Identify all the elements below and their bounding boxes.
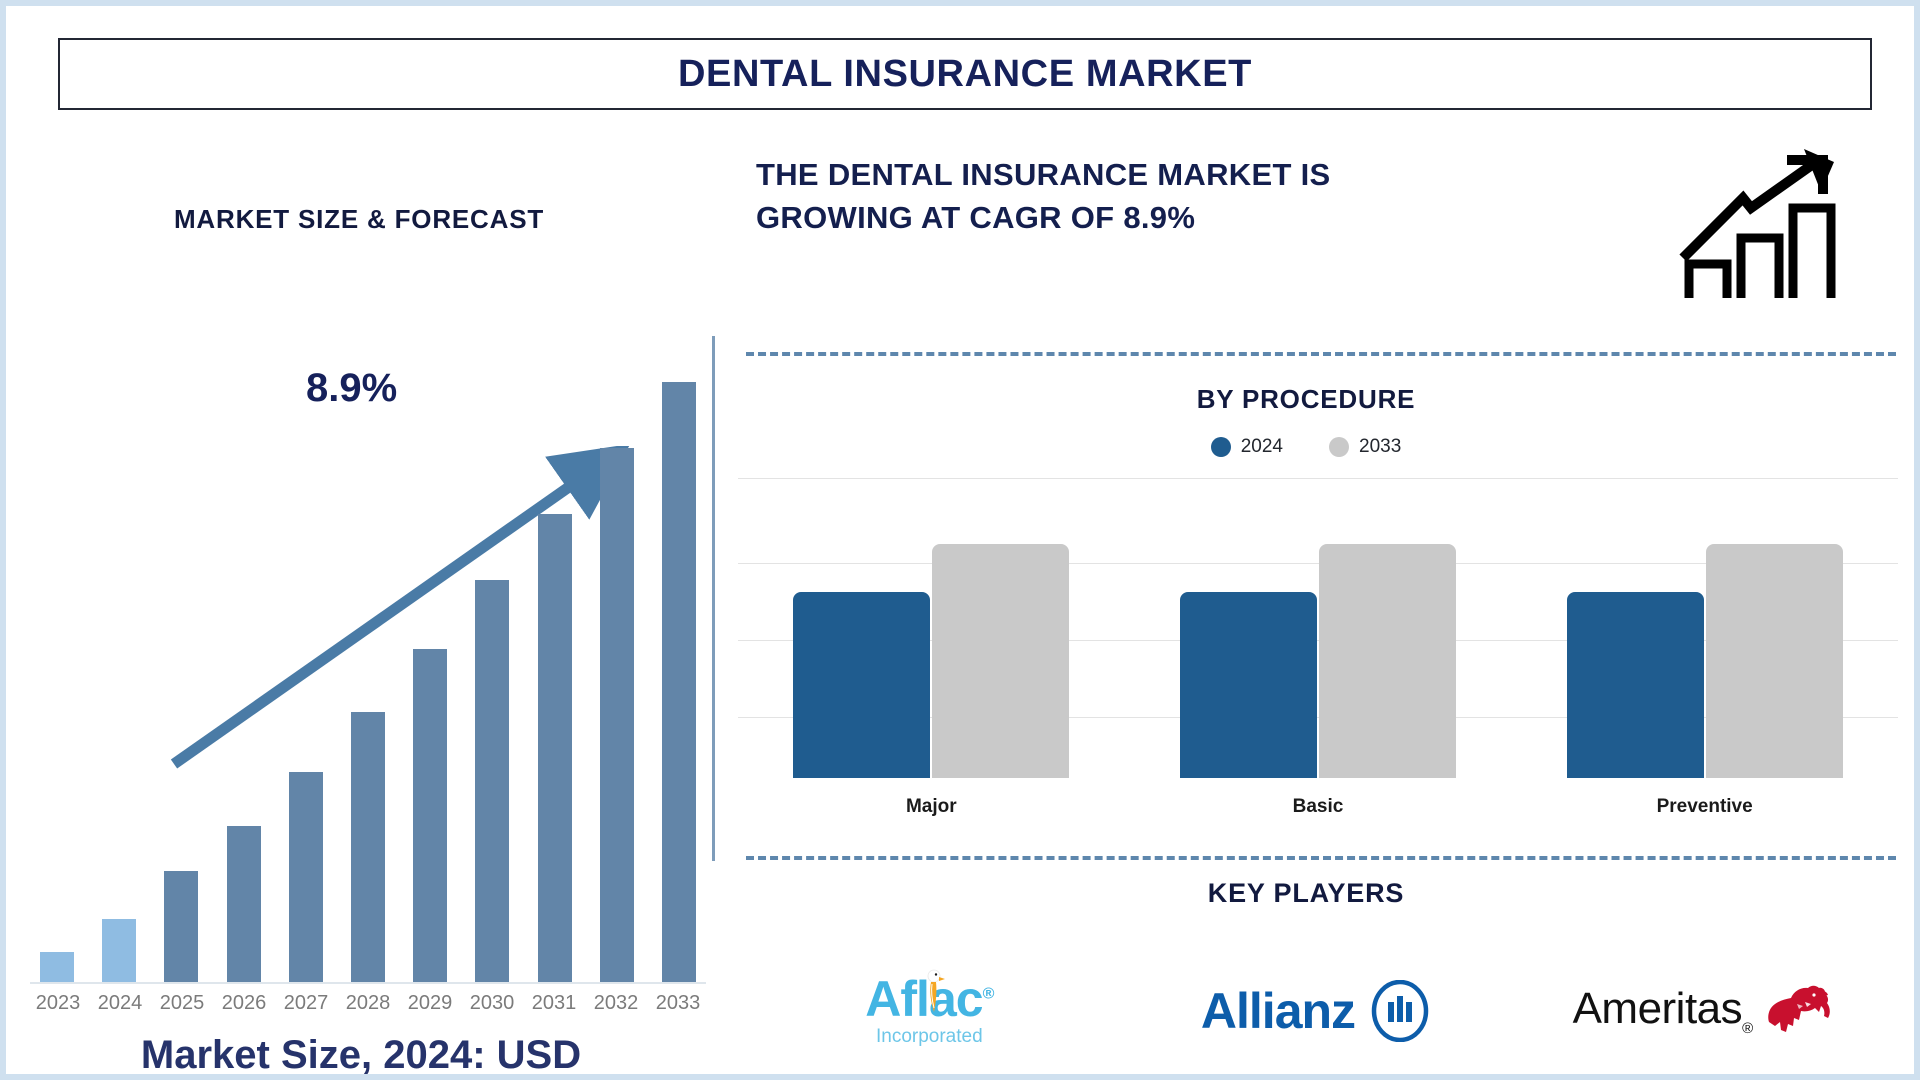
bar-major-2033 [932, 544, 1069, 778]
aflac-logo: Aflac® Incorporated [865, 974, 993, 1048]
year-label: 2025 [156, 992, 208, 1015]
growth-chart-icon [1671, 146, 1851, 306]
market-size-line-1: Market Size, 2024: USD [16, 1031, 706, 1080]
bar-2031 [538, 514, 572, 982]
legend-label: 2024 [1241, 436, 1283, 458]
category-label-basic: Basic [1178, 796, 1458, 818]
allianz-wordmark: Allianz [1201, 986, 1355, 1036]
category-label-major: Major [791, 796, 1071, 818]
year-label: 2033 [652, 992, 704, 1015]
aflac-registered-mark: ® [983, 985, 994, 1002]
market-size-bar-chart [30, 376, 706, 984]
by-procedure-chart [738, 478, 1898, 808]
ameritas-bison-icon [1761, 982, 1833, 1040]
market-size-value: Market Size, 2024: USD ~208,147.2 Millio… [16, 1031, 706, 1080]
logo-ameritas: Ameritas® [1538, 956, 1868, 1066]
by-procedure-legend: 2024 2033 [716, 436, 1896, 458]
legend-dot-icon [1329, 437, 1349, 457]
aflac-tagline: Incorporated [876, 1026, 983, 1048]
aflac-wordmark: Aflac® [865, 974, 993, 1024]
year-label: 2032 [590, 992, 642, 1015]
year-label: 2031 [528, 992, 580, 1015]
allianz-emblem-icon [1369, 980, 1431, 1042]
growth-headline-line-2: GROWING AT CAGR OF 8.9% [756, 197, 1576, 240]
divider-top [746, 352, 1896, 356]
market-size-bars [30, 382, 706, 982]
year-label: 2023 [32, 992, 84, 1015]
bar-group-major [791, 478, 1071, 778]
growth-headline-line-1: THE DENTAL INSURANCE MARKET IS [756, 154, 1576, 197]
divider-bottom [746, 856, 1896, 860]
market-size-heading: MARKET SIZE & FORECAST [6, 204, 712, 235]
ameritas-wordmark: Ameritas® [1573, 987, 1753, 1036]
growth-headline: THE DENTAL INSURANCE MARKET IS GROWING A… [756, 154, 1576, 240]
bar-2024 [102, 919, 136, 982]
year-label: 2027 [280, 992, 332, 1015]
bar-2030 [475, 580, 509, 982]
market-size-panel: MARKET SIZE & FORECAST 8.9% [6, 126, 712, 1066]
bar-preventive-2024 [1567, 592, 1704, 778]
bar-basic-2033 [1319, 544, 1456, 778]
bar-2027 [289, 772, 323, 982]
bar-2032 [600, 448, 634, 982]
bar-major-2024 [793, 592, 930, 778]
ameritas-wordmark-text: Ameritas [1573, 984, 1743, 1033]
year-label: 2028 [342, 992, 394, 1015]
legend-item-2033: 2033 [1329, 436, 1401, 458]
key-players-title: KEY PLAYERS [716, 878, 1896, 909]
by-procedure-title: BY PROCEDURE [716, 384, 1896, 415]
bar-group-basic [1178, 478, 1458, 778]
key-players-logos: Aflac® Incorporated [736, 956, 1896, 1066]
bar-2026 [227, 826, 261, 982]
bar-2025 [164, 871, 198, 982]
logo-aflac: Aflac® Incorporated [764, 956, 1094, 1066]
year-label: 2024 [94, 992, 146, 1015]
market-size-year-labels: 2023 2024 2025 2026 2027 2028 2029 2030 … [30, 992, 706, 1015]
year-label: 2029 [404, 992, 456, 1015]
title-box: DENTAL INSURANCE MARKET [58, 38, 1872, 110]
bar-2023 [40, 952, 74, 982]
legend-item-2024: 2024 [1211, 436, 1283, 458]
aflac-duck-icon [922, 968, 946, 1014]
bar-2028 [351, 712, 385, 982]
by-procedure-bars [738, 478, 1898, 778]
right-panel: THE DENTAL INSURANCE MARKET IS GROWING A… [716, 126, 1916, 1071]
year-label: 2030 [466, 992, 518, 1015]
year-label: 2026 [218, 992, 270, 1015]
legend-label: 2033 [1359, 436, 1401, 458]
category-label-preventive: Preventive [1565, 796, 1845, 818]
page-title: DENTAL INSURANCE MARKET [678, 53, 1252, 96]
bar-group-preventive [1565, 478, 1845, 778]
logo-allianz: Allianz [1151, 956, 1481, 1066]
legend-dot-icon [1211, 437, 1231, 457]
bar-preventive-2033 [1706, 544, 1843, 778]
vertical-divider [712, 336, 715, 861]
by-procedure-category-labels: Major Basic Preventive [738, 796, 1898, 818]
chart-baseline [30, 982, 706, 984]
bar-basic-2024 [1180, 592, 1317, 778]
bar-2033 [662, 382, 696, 982]
infographic-page: DENTAL INSURANCE MARKET MARKET SIZE & FO… [0, 0, 1920, 1080]
bar-2029 [413, 649, 447, 982]
ameritas-registered-mark: ® [1742, 1019, 1753, 1036]
ameritas-logo: Ameritas® [1573, 982, 1833, 1040]
allianz-logo: Allianz [1201, 980, 1431, 1042]
